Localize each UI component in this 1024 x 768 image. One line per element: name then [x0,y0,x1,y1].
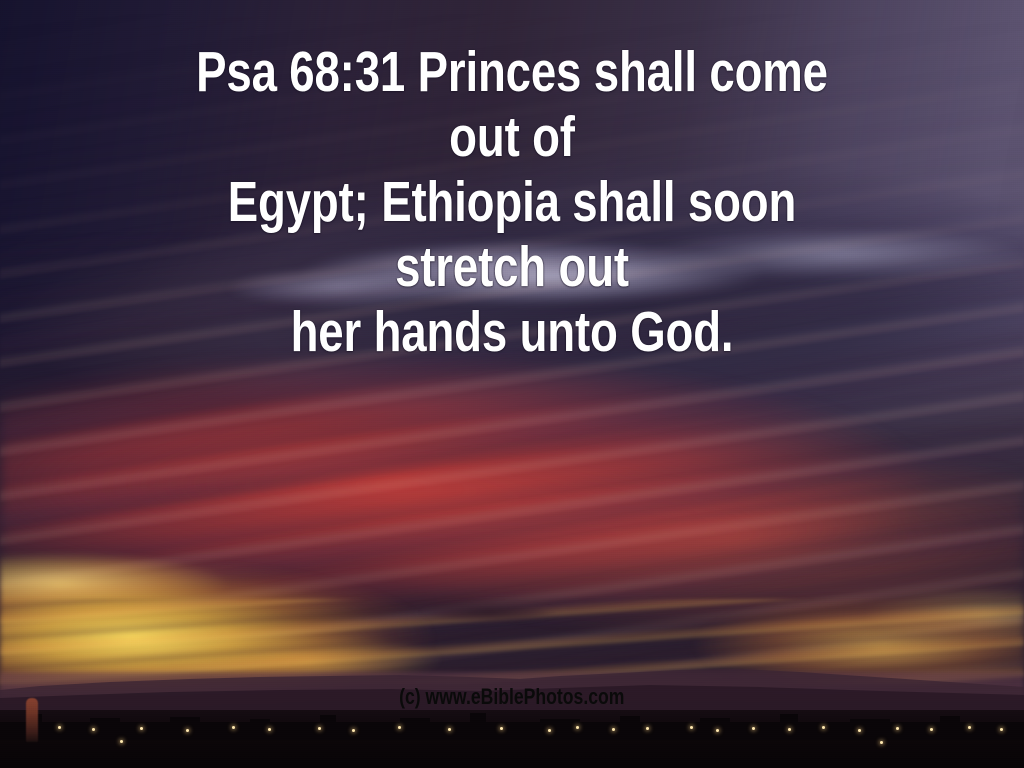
city-skyline-silhouette [0,706,1024,740]
sunset-verse-image: Psa 68:31 Princes shall come out of Egyp… [0,0,1024,768]
lenticular-cloud [410,601,568,624]
land-upper-edge [0,712,1024,734]
foreground-land [0,710,1024,768]
verse-line-1: Psa 68:31 Princes shall come out of [160,40,864,170]
verse-line-2: Egypt; Ethiopia shall soon stretch out [160,170,864,300]
copyright-watermark: (c) www.eBiblePhotos.com [0,686,1024,708]
verse-text-overlay: Psa 68:31 Princes shall come out of Egyp… [72,40,952,365]
horizon-gold-banding [0,599,1024,683]
verse-line-3: her hands unto God. [160,300,864,365]
watermark-text: (c) www.eBiblePhotos.com [399,686,624,708]
